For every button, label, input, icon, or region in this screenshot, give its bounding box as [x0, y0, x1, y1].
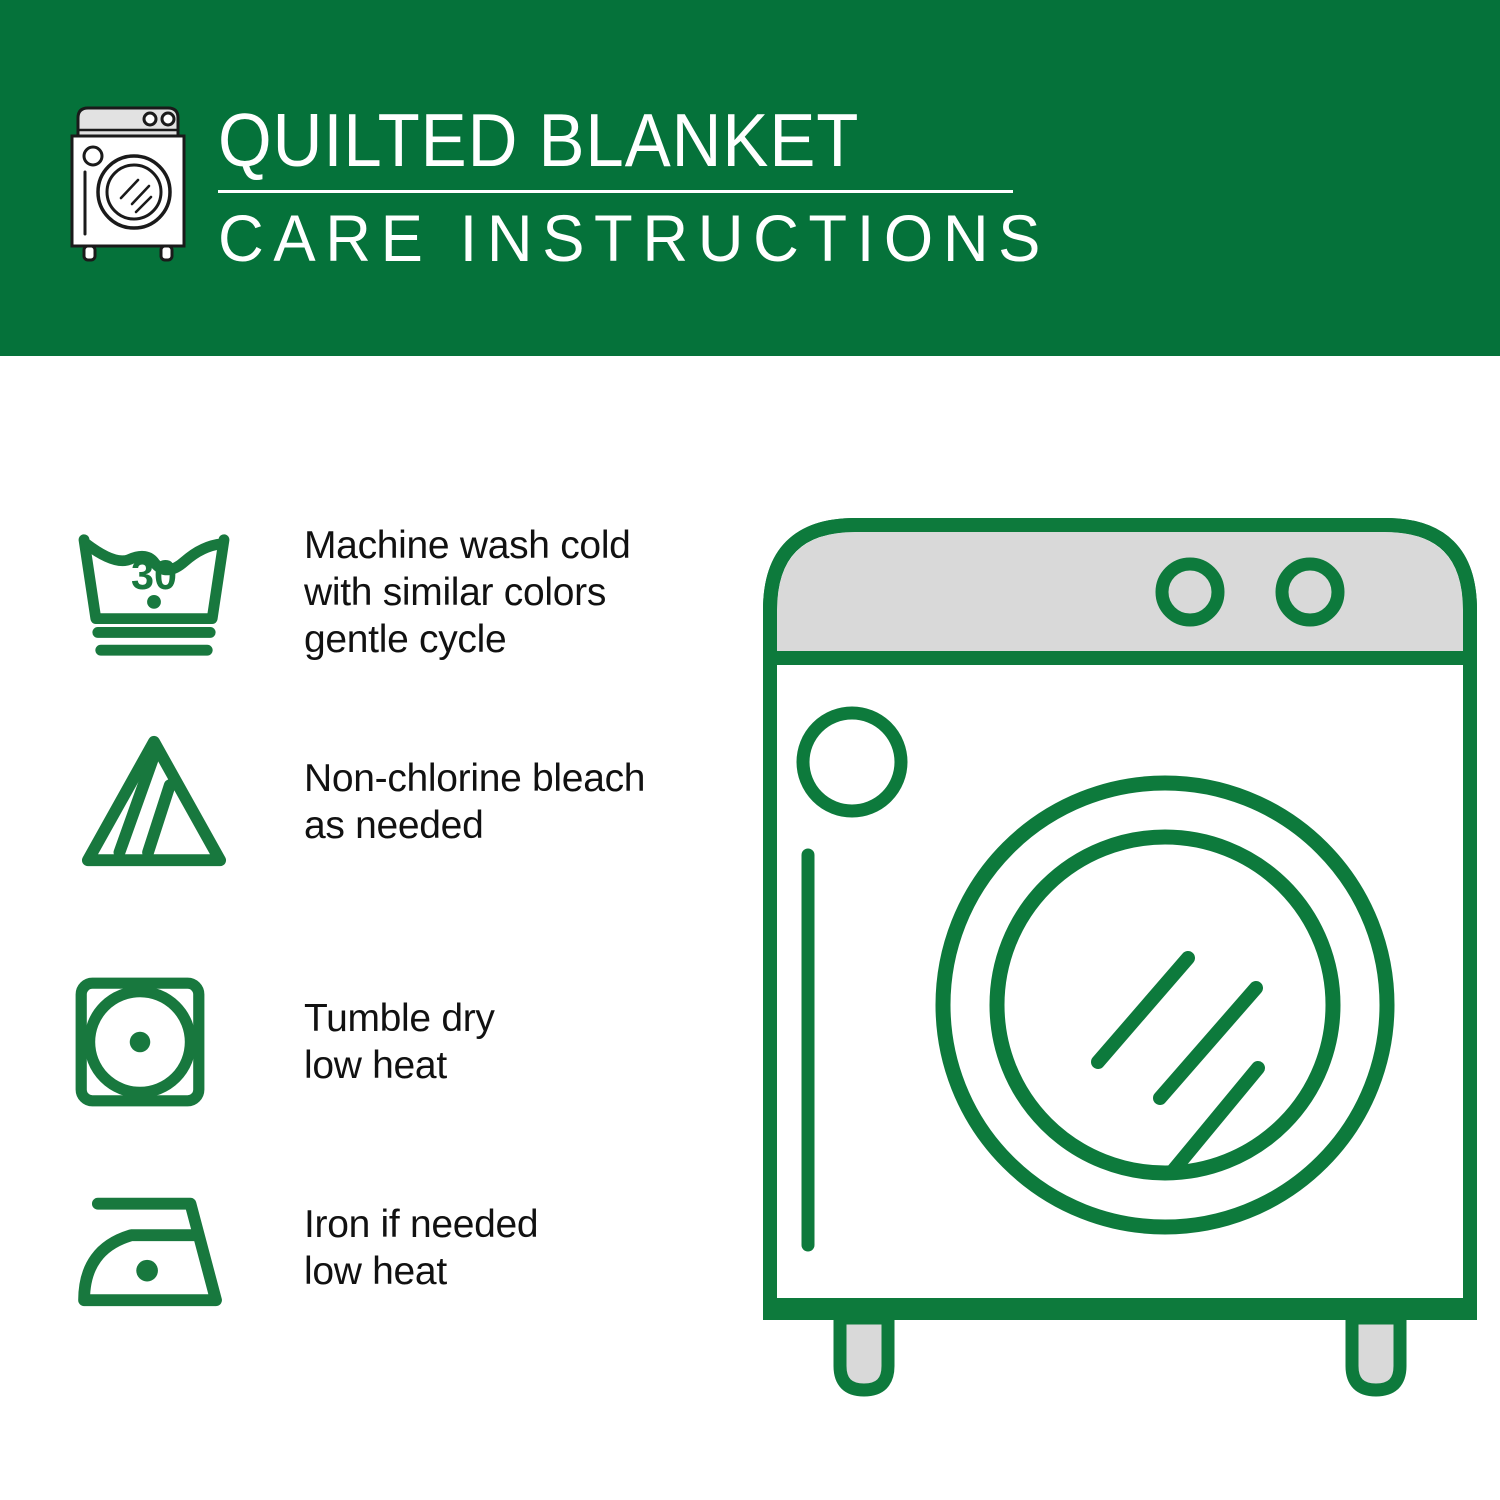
front-load-washing-machine-illustration	[740, 480, 1500, 1440]
page-subtitle: CARE INSTRUCTIONS	[218, 202, 986, 274]
iron-low-heat-icon	[70, 1184, 238, 1312]
list-item: Non-chlorine bleach as needed	[70, 728, 710, 876]
header-title-block: QUILTED BLANKET CARE INSTRUCTIONS	[218, 100, 1018, 274]
care-instruction-list: 30 Machine wash cold with similar colors…	[0, 356, 740, 1500]
title-divider	[218, 190, 1013, 193]
wash-tub-30-gentle-icon: 30	[70, 524, 238, 662]
knob-right-icon	[1282, 564, 1338, 620]
washing-machine-icon	[64, 104, 199, 264]
header-banner: QUILTED BLANKET CARE INSTRUCTIONS	[0, 0, 1500, 356]
page-title: QUILTED BLANKET	[218, 100, 954, 180]
leg-right	[1352, 1318, 1400, 1390]
drum-inner-ring	[997, 837, 1333, 1173]
list-item: Iron if needed low heat	[70, 1184, 710, 1312]
tumble-dry-low-heat-icon	[70, 972, 238, 1112]
knob-left-icon	[1162, 564, 1218, 620]
list-item-label: Non-chlorine bleach as needed	[304, 755, 645, 849]
non-chlorine-bleach-triangle-icon	[70, 728, 238, 876]
wash-temp-value: 30	[131, 552, 177, 598]
indicator-button-icon	[803, 713, 901, 811]
list-item-label: Tumble dry low heat	[304, 995, 495, 1089]
list-item: Tumble dry low heat	[70, 972, 710, 1112]
list-item: 30 Machine wash cold with similar colors…	[70, 522, 710, 663]
leg-left	[840, 1318, 888, 1390]
list-item-label: Machine wash cold with similar colors ge…	[304, 522, 631, 663]
list-item-label: Iron if needed low heat	[304, 1201, 538, 1295]
